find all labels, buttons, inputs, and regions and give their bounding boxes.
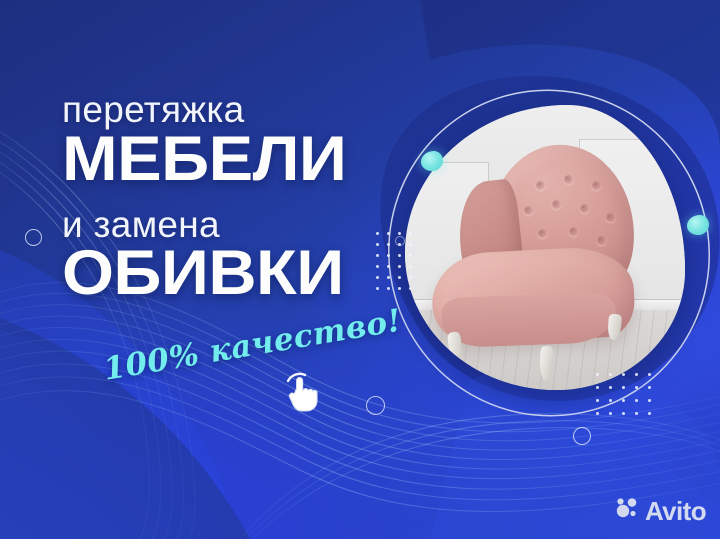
quality-tagline: 100% качество!: [101, 303, 404, 388]
pink-armchair: [427, 145, 662, 373]
headline-line-1: перетяжка: [62, 92, 422, 128]
avito-logo[interactable]: Avito: [616, 497, 706, 525]
decor-circle-outline: [366, 396, 385, 415]
pointing-hand-cursor-icon: [282, 370, 322, 419]
headline-line-4: ОБИВКИ: [62, 244, 444, 304]
decor-circle-outline: [573, 427, 591, 445]
product-photo-clip: [405, 105, 685, 390]
dot-grid-right: [596, 373, 661, 425]
chair-skirt: [441, 292, 617, 348]
decor-circle-outline: [25, 229, 42, 246]
product-photo: [405, 105, 685, 390]
chair-leg: [607, 313, 622, 340]
headline-line-2: МЕБЕЛИ: [62, 130, 444, 190]
avito-wordmark: Avito: [645, 498, 706, 524]
avito-furniture-ad-banner: перетяжка МЕБЕЛИ и замена ОБИВКИ 100% ка…: [0, 0, 720, 539]
cyan-node-dot: [687, 215, 709, 235]
headline-block: перетяжка МЕБЕЛИ и замена ОБИВКИ: [62, 92, 422, 304]
avito-dots-logo-icon: [616, 497, 639, 525]
room-scene: [405, 105, 685, 390]
quality-tagline-text: 100% качество!: [101, 303, 404, 388]
